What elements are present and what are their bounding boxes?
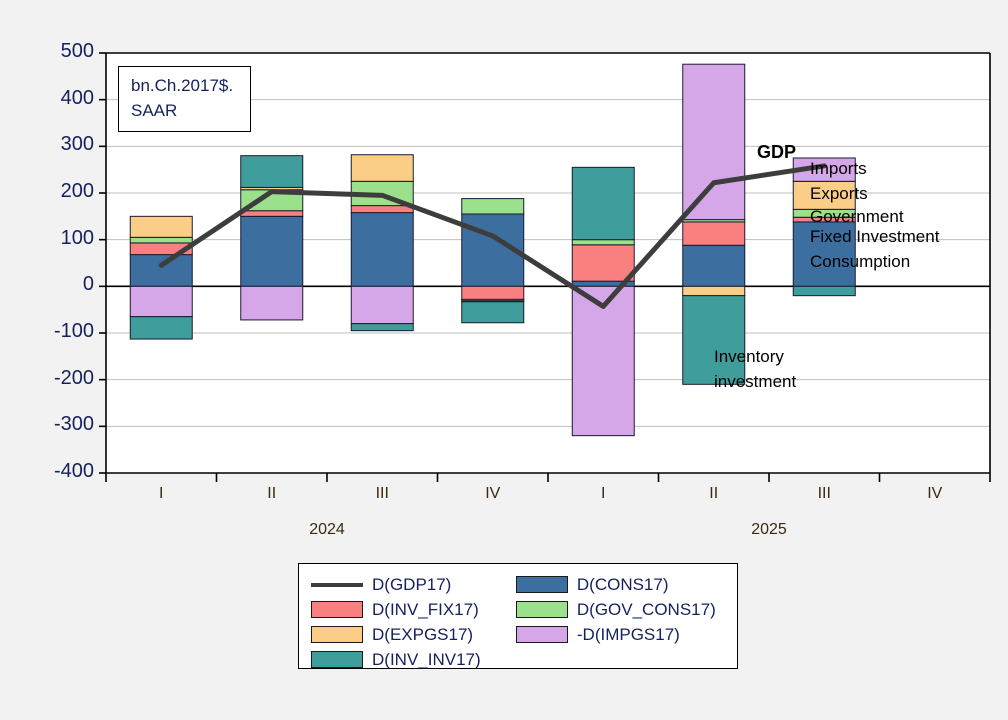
bar-segment--dimpgs17 xyxy=(130,286,192,316)
callout-government: Government xyxy=(810,207,904,227)
legend-item-dinv_fix17[interactable]: D(INV_FIX17) xyxy=(311,597,490,622)
stacked-bar-chart: 5004003002001000-100-200-300-400 IIIIIII… xyxy=(0,0,1008,720)
legend-item-empty xyxy=(516,647,725,672)
y-tick-label--200: -200 xyxy=(28,367,94,390)
bar-segment-dinv_inv17 xyxy=(130,317,192,339)
legend-color-swatch-dexpgs17 xyxy=(311,626,363,643)
y-tick-label--100: -100 xyxy=(28,320,94,343)
legend-label-dgov_cons17: D(GOV_CONS17) xyxy=(577,600,716,620)
legend-label-dinv_fix17: D(INV_FIX17) xyxy=(372,600,479,620)
legend-color-swatch-dimpgs17 xyxy=(516,626,568,643)
callout-inventory-investment: Inventory investment xyxy=(714,344,844,394)
x-tick-label-0: I xyxy=(131,485,191,503)
legend-line-swatch-dgdp17 xyxy=(311,576,363,593)
legend-item-dgdp17[interactable]: D(GDP17) xyxy=(311,572,490,597)
y-tick-label-400: 400 xyxy=(28,87,94,110)
bar-segment-dinv_fix17 xyxy=(351,206,413,213)
bar-segment--dimpgs17 xyxy=(351,286,413,323)
y-tick-label-100: 100 xyxy=(28,227,94,250)
legend-color-swatch-dcons17 xyxy=(516,576,568,593)
bar-segment-dcons17 xyxy=(241,216,303,286)
legend-item-dinv_inv17[interactable]: D(INV_INV17) xyxy=(311,647,490,672)
units-annotation-box: bn.Ch.2017$. SAAR xyxy=(118,66,251,132)
units-annotation-line-1: bn.Ch.2017$. xyxy=(131,73,240,98)
legend-item-dexpgs17[interactable]: D(EXPGS17) xyxy=(311,622,490,647)
y-tick-label-200: 200 xyxy=(28,180,94,203)
legend-label-dexpgs17: D(EXPGS17) xyxy=(372,625,473,645)
legend-label-dgdp17: D(GDP17) xyxy=(372,575,451,595)
callout-gdp: GDP xyxy=(757,142,796,163)
bar-segment-dinv_inv17 xyxy=(462,302,524,323)
legend: D(GDP17)D(CONS17)D(INV_FIX17)D(GOV_CONS1… xyxy=(298,563,738,669)
y-tick-label--300: -300 xyxy=(28,413,94,436)
callout-consumption: Consumption xyxy=(810,252,910,272)
x-tick-label-3: IV xyxy=(463,485,523,503)
bar-segment-dinv_fix17 xyxy=(241,211,303,217)
x-tick-label-2: III xyxy=(352,485,412,503)
bar-segment-dcons17 xyxy=(683,245,745,286)
y-tick-label--400: -400 xyxy=(28,460,94,483)
x-tick-label-7: IV xyxy=(905,485,965,503)
bar-segment--dimpgs17 xyxy=(241,286,303,320)
x-tick-label-5: II xyxy=(684,485,744,503)
y-tick-label-500: 500 xyxy=(28,40,94,63)
bar-segment-dcons17 xyxy=(130,255,192,287)
bar-segment-dinv_inv17 xyxy=(572,167,634,239)
bar-segment-dinv_inv17 xyxy=(351,324,413,331)
bar-segment-dcons17 xyxy=(351,213,413,287)
legend-color-swatch-dgov_cons17 xyxy=(516,601,568,618)
bar-segment-dgov_cons17 xyxy=(130,237,192,243)
legend-item-dgov_cons17[interactable]: D(GOV_CONS17) xyxy=(516,597,725,622)
legend-item-dcons17[interactable]: D(CONS17) xyxy=(516,572,725,597)
legend-label-dinv_inv17: D(INV_INV17) xyxy=(372,650,481,670)
callout-exports: Exports xyxy=(810,184,868,204)
bar-segment-dexpgs17 xyxy=(130,216,192,237)
legend-color-swatch-dinv_fix17 xyxy=(311,601,363,618)
bar-segment-dinv_inv17 xyxy=(241,156,303,188)
callout-imports: Imports xyxy=(810,159,867,179)
bar-segment-dinv_fix17 xyxy=(572,245,634,281)
y-tick-label-0: 0 xyxy=(28,273,94,296)
y-tick-label-300: 300 xyxy=(28,133,94,156)
x-tick-label-4: I xyxy=(573,485,633,503)
bar-segment--dimpgs17 xyxy=(683,64,745,219)
bar-segment-dexpgs17 xyxy=(683,286,745,295)
x-axis-group-label-2024: 2024 xyxy=(282,521,372,539)
bar-segment-dexpgs17 xyxy=(351,155,413,182)
x-tick-label-6: III xyxy=(794,485,854,503)
bar-segment-dinv_inv17 xyxy=(793,286,855,295)
units-annotation-line-2: SAAR xyxy=(131,98,240,123)
legend-color-swatch-dinv_inv17 xyxy=(311,651,363,668)
legend-label-dimpgs17: -D(IMPGS17) xyxy=(577,625,680,645)
bar-segment-dgov_cons17 xyxy=(462,199,524,214)
callout-fixed-investment: Fixed Investment xyxy=(810,227,939,247)
legend-label-dcons17: D(CONS17) xyxy=(577,575,669,595)
bar-segment-dinv_fix17 xyxy=(683,222,745,245)
bar-segment-dgov_cons17 xyxy=(572,240,634,245)
x-axis-group-label-2025: 2025 xyxy=(724,521,814,539)
x-tick-label-1: II xyxy=(242,485,302,503)
bar-segment-dinv_fix17 xyxy=(462,286,524,299)
legend-item-dimpgs17[interactable]: -D(IMPGS17) xyxy=(516,622,725,647)
